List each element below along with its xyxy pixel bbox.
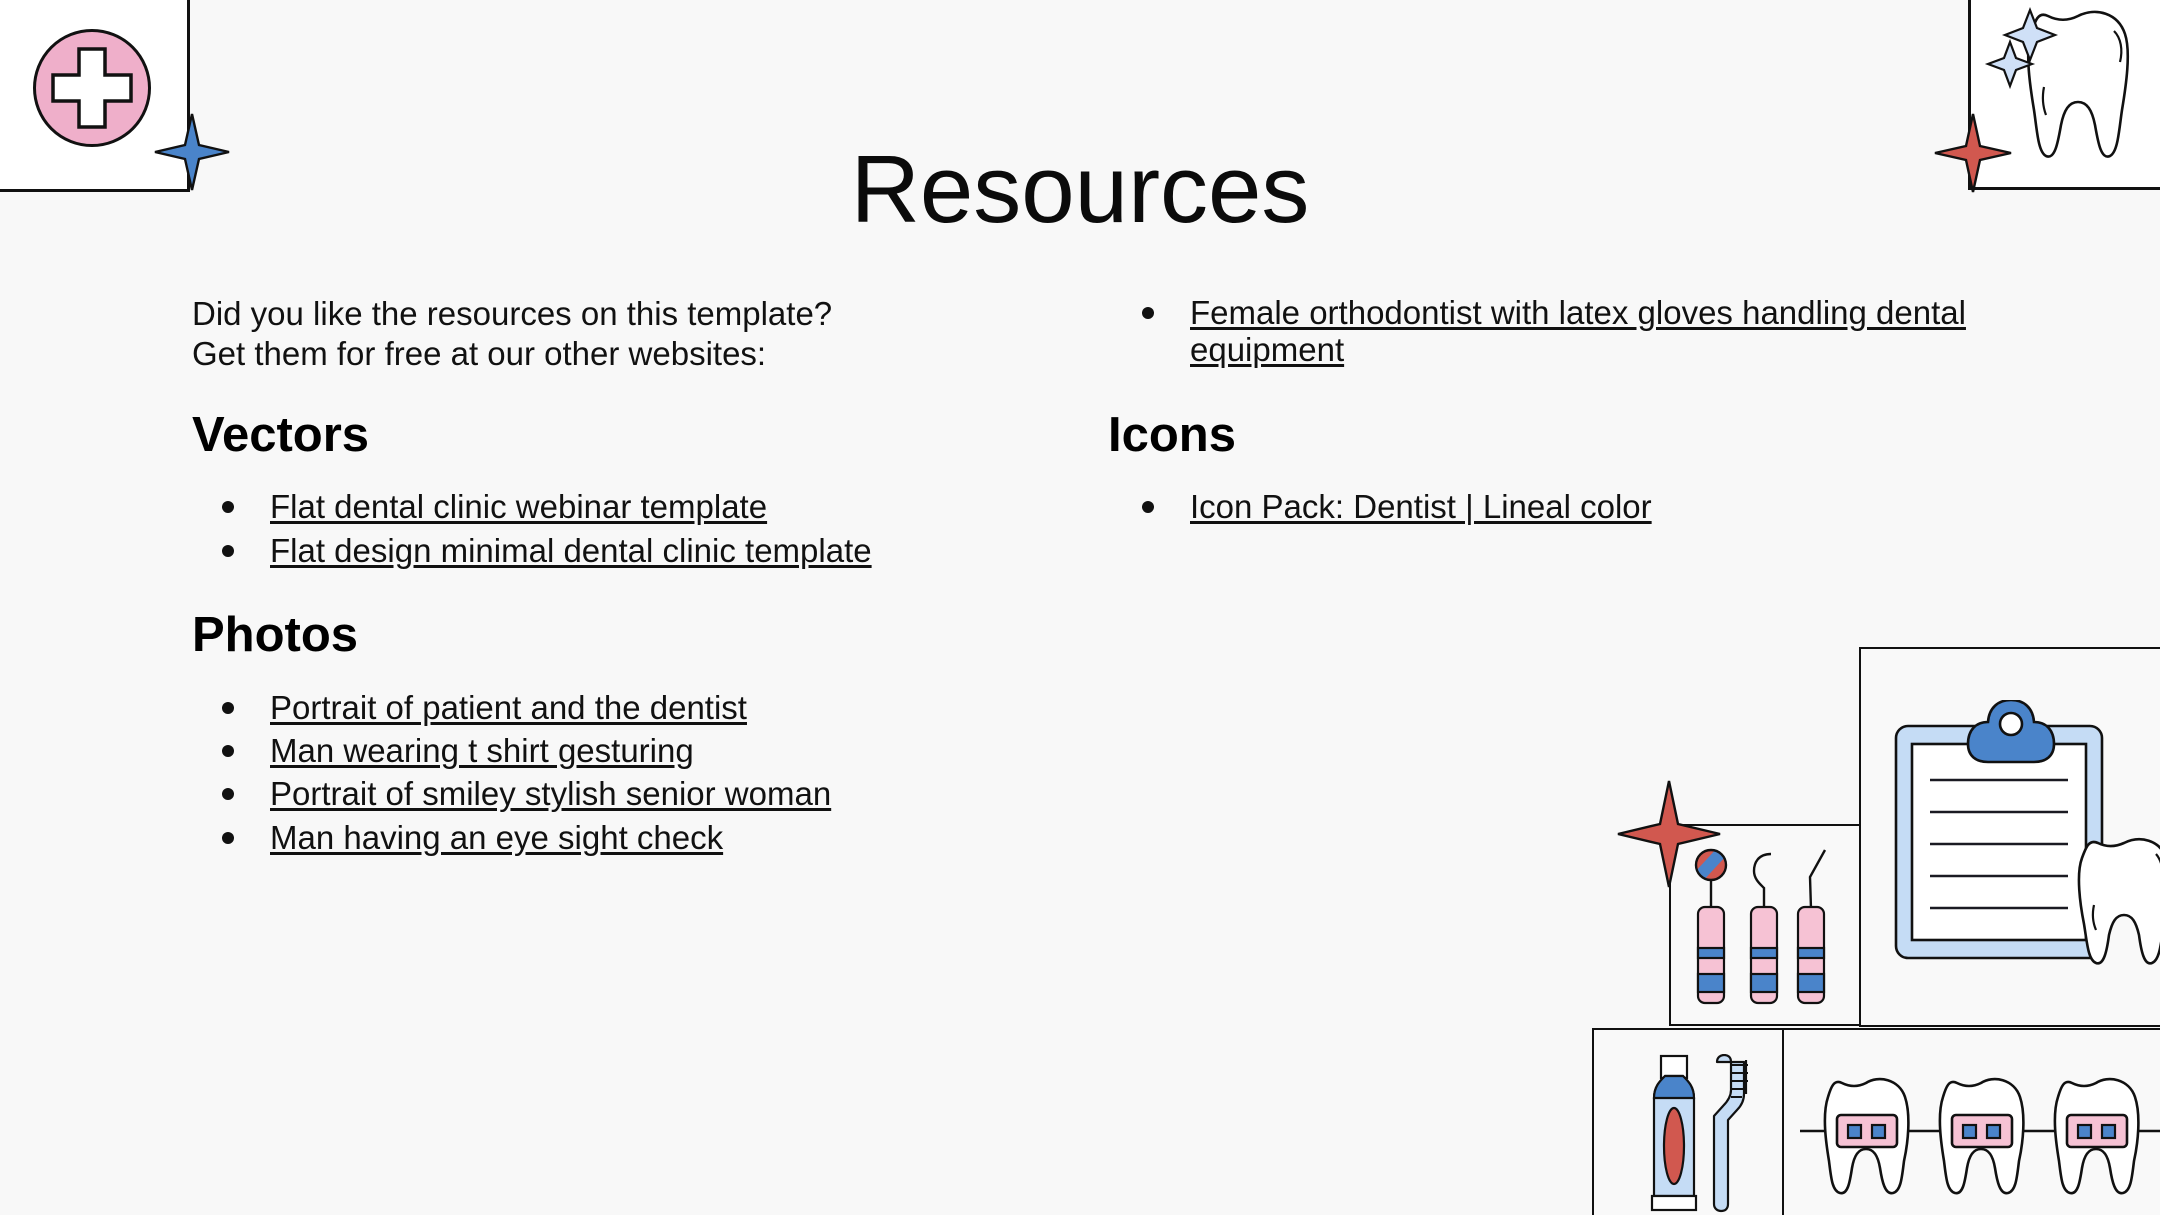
list-item[interactable]: Man wearing t shirt gesturing — [192, 732, 1012, 769]
list-item[interactable]: Icon Pack: Dentist | Lineal color — [1108, 488, 1988, 525]
resource-link[interactable]: Icon Pack: Dentist | Lineal color — [1190, 488, 1652, 525]
four-point-star-icon-topleft — [153, 112, 231, 192]
right-column: Female orthodontist with latex gloves ha… — [1108, 294, 1988, 566]
photos-list: Portrait of patient and the dentist Man … — [192, 689, 1012, 856]
right-top-list: Female orthodontist with latex gloves ha… — [1108, 294, 1988, 369]
intro-line-1: Did you like the resources on this templ… — [192, 294, 1012, 334]
bullet-icon — [1142, 307, 1154, 319]
resource-link[interactable]: Portrait of smiley stylish senior woman — [270, 775, 831, 812]
resource-link[interactable]: Female orthodontist with latex gloves ha… — [1190, 294, 1966, 368]
intro-paragraph: Did you like the resources on this templ… — [192, 294, 1012, 375]
bullet-icon — [222, 545, 234, 557]
icons-list: Icon Pack: Dentist | Lineal color — [1108, 488, 1988, 525]
teeth-with-braces-icon — [1800, 1065, 2160, 1215]
bullet-icon — [1142, 501, 1154, 513]
slide-root: Resources Did you like the resources on … — [0, 0, 2160, 1215]
left-column: Did you like the resources on this templ… — [192, 294, 1012, 896]
toothpaste-and-toothbrush-icon — [1644, 1054, 1764, 1214]
clipboard-illustration-box — [1859, 647, 2160, 1027]
resource-link[interactable]: Man wearing t shirt gesturing — [270, 732, 694, 769]
dental-tools-illustration-box — [1669, 824, 1861, 1026]
resource-link[interactable]: Flat design minimal dental clinic templa… — [270, 532, 872, 569]
resource-link[interactable]: Portrait of patient and the dentist — [270, 689, 747, 726]
four-point-star-icon-topright — [1933, 112, 2013, 194]
bullet-icon — [222, 501, 234, 513]
list-item[interactable]: Portrait of smiley stylish senior woman — [192, 775, 1012, 812]
list-item[interactable]: Flat dental clinic webinar template — [192, 488, 1012, 525]
four-point-star-icon-cluster — [1615, 778, 1723, 890]
bullet-icon — [222, 788, 234, 800]
heading-vectors: Vectors — [192, 409, 1012, 463]
bullet-icon — [222, 832, 234, 844]
resource-link[interactable]: Flat dental clinic webinar template — [270, 488, 767, 525]
page-title: Resources — [0, 140, 2160, 241]
vectors-list: Flat dental clinic webinar template Flat… — [192, 488, 1012, 569]
intro-line-2: Get them for free at our other websites: — [192, 334, 1012, 374]
heading-icons: Icons — [1108, 409, 1988, 463]
bullet-icon — [222, 745, 234, 757]
toothpaste-illustration-box — [1592, 1028, 1784, 1215]
list-item[interactable]: Portrait of patient and the dentist — [192, 689, 1012, 726]
list-item[interactable]: Flat design minimal dental clinic templa… — [192, 532, 1012, 569]
clipboard-with-tooth-icon — [1890, 700, 2160, 1000]
medical-plus-icon — [33, 29, 151, 147]
list-item[interactable]: Man having an eye sight check — [192, 819, 1012, 856]
resource-link[interactable]: Man having an eye sight check — [270, 819, 723, 856]
heading-photos: Photos — [192, 609, 1012, 663]
bullet-icon — [222, 702, 234, 714]
dental-tools-icon — [1688, 843, 1838, 1013]
list-item[interactable]: Female orthodontist with latex gloves ha… — [1108, 294, 1988, 369]
braces-illustration-box — [1782, 1028, 2160, 1215]
